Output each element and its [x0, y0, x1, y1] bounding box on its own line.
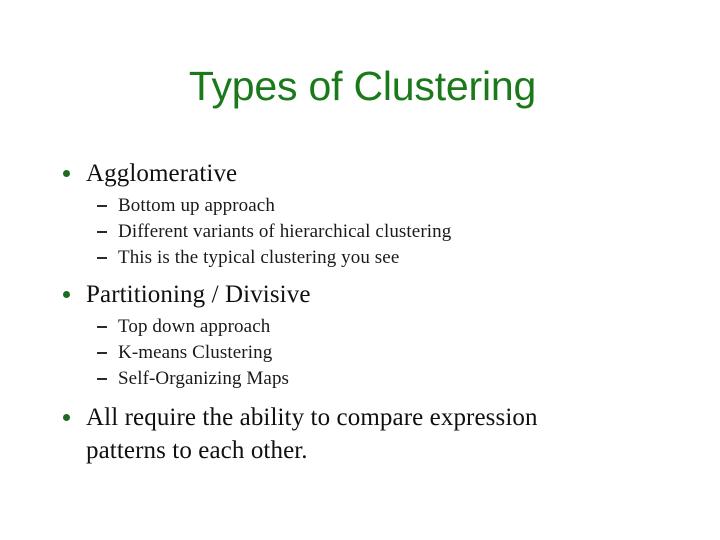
bullet-group-all-require: All require the ability to compare expre… [56, 401, 656, 467]
spacer [56, 271, 656, 278]
dash-icon [97, 231, 107, 233]
sub-bullet-label: This is the typical clustering you see [118, 247, 399, 268]
dash-icon [97, 205, 107, 207]
page-title: Types of Clustering [0, 61, 720, 111]
bullet-dot-icon [63, 414, 70, 421]
sub-bullet-label: K-means Clustering [118, 342, 272, 363]
sub-bullet-label: Top down approach [118, 316, 270, 337]
dash-icon [97, 257, 107, 259]
bullet-dot-icon [63, 170, 70, 177]
spacer [56, 392, 656, 401]
sub-bullet-label: Self-Organizing Maps [118, 368, 289, 389]
sub-bullet-item: K-means Clustering [56, 340, 656, 366]
sub-bullet-label: Different variants of hierarchical clust… [118, 221, 451, 242]
bullet-dot-icon [63, 291, 70, 298]
sub-bullet-item: Different variants of hierarchical clust… [56, 219, 656, 245]
dash-icon [97, 326, 107, 328]
bullet-group-partitioning: Partitioning / Divisive Top down approac… [56, 278, 656, 392]
bullet-item-all-require: All require the ability to compare expre… [56, 401, 656, 467]
bullet-label: All require the ability to compare expre… [86, 401, 656, 434]
sub-bullet-item: This is the typical clustering you see [56, 245, 656, 271]
bullet-item-agglomerative: Agglomerative [56, 157, 656, 190]
sub-bullet-list-partitioning: Top down approach K-means Clustering Sel… [56, 314, 656, 392]
bullet-label: Agglomerative [86, 157, 656, 190]
dash-icon [97, 378, 107, 380]
slide-body: Agglomerative Bottom up approach Differe… [56, 157, 656, 467]
sub-bullet-item: Self-Organizing Maps [56, 366, 656, 392]
dash-icon [97, 352, 107, 354]
sub-bullet-item: Top down approach [56, 314, 656, 340]
sub-bullet-label: Bottom up approach [118, 195, 275, 216]
bullet-item-partitioning: Partitioning / Divisive [56, 278, 656, 311]
sub-bullet-item: Bottom up approach [56, 193, 656, 219]
slide: Types of Clustering Agglomerative Bottom… [0, 0, 720, 540]
sub-bullet-list-agglomerative: Bottom up approach Different variants of… [56, 193, 656, 271]
bullet-group-agglomerative: Agglomerative Bottom up approach Differe… [56, 157, 656, 271]
bullet-label-continuation: patterns to each other. [86, 434, 656, 467]
bullet-label: Partitioning / Divisive [86, 278, 656, 311]
